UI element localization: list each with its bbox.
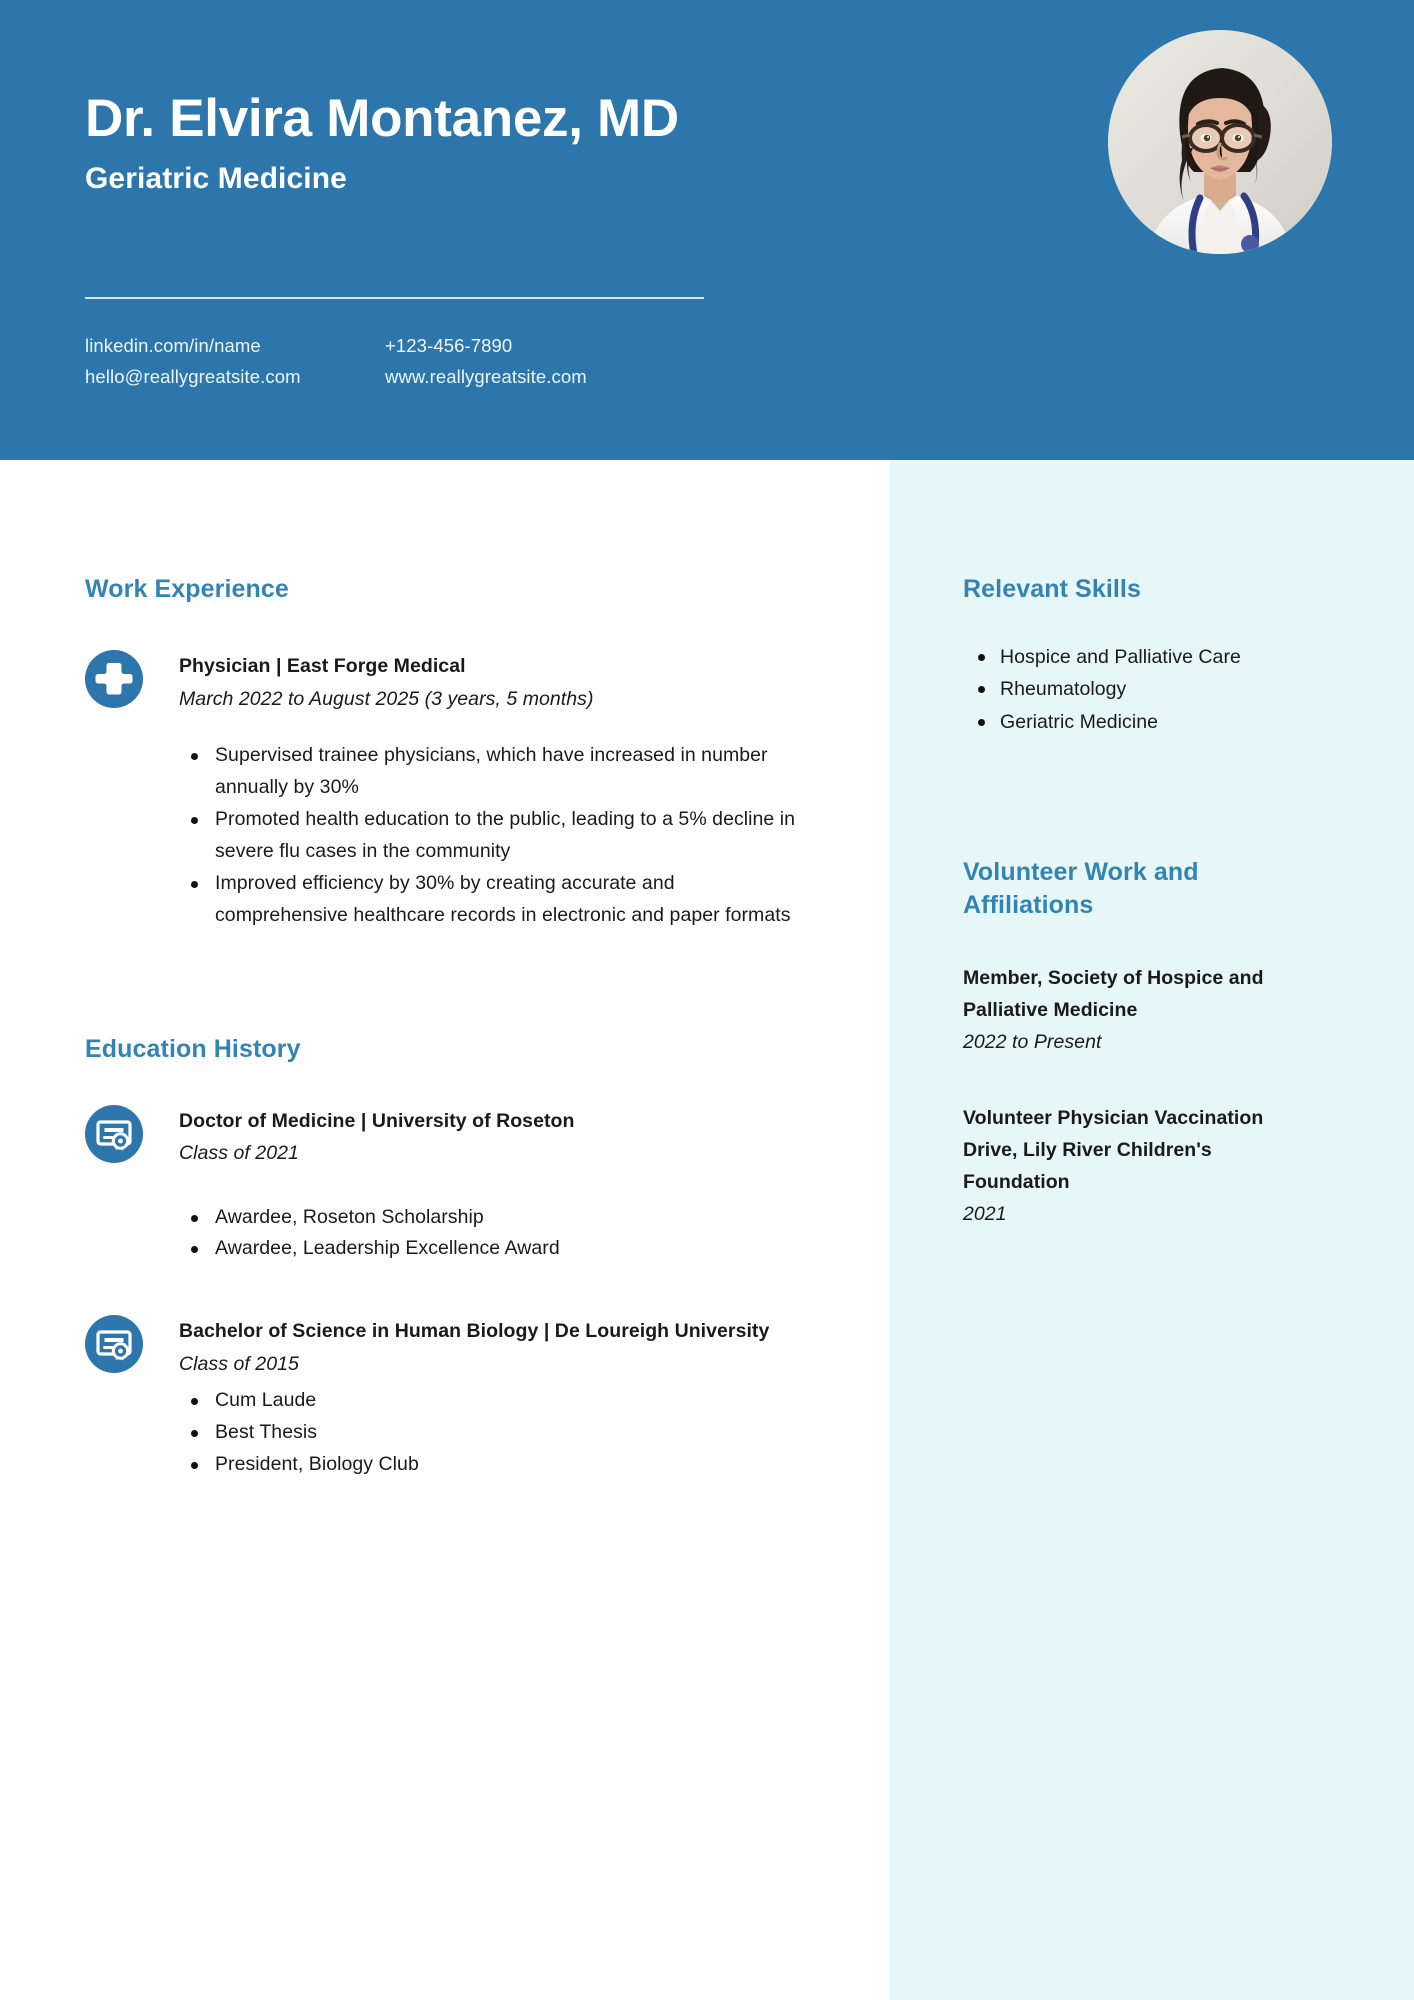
education-bullets: Awardee, Roseton Scholarship Awardee, Le… [179, 1202, 805, 1266]
phone-number[interactable]: +123-456-7890 [385, 333, 587, 360]
list-item: Improved efficiency by 30% by creating a… [213, 868, 805, 932]
volunteer-dates: 2022 to Present [963, 1027, 1273, 1059]
resume-page: Dr. Elvira Montanez, MD Geriatric Medici… [0, 0, 1414, 2000]
degree-class: Class of 2015 [179, 1349, 805, 1379]
job-title: Physician | East Forge Medical [179, 652, 805, 682]
resume-header: Dr. Elvira Montanez, MD Geriatric Medici… [0, 0, 1414, 460]
certificate-icon [85, 1105, 143, 1163]
resume-body: Work Experience Physician | East Forge M… [0, 460, 1414, 2000]
volunteer-entry: Member, Society of Hospice and Palliativ… [963, 963, 1273, 1059]
main-column: Work Experience Physician | East Forge M… [0, 460, 890, 2000]
contact-info: linkedin.com/in/name hello@reallygreatsi… [85, 333, 587, 391]
list-item: President, Biology Club [213, 1449, 805, 1481]
list-item: Rheumatology [1000, 673, 1414, 705]
header-divider [85, 297, 704, 299]
list-item: Promoted health education to the public,… [213, 804, 805, 868]
job-dates: March 2022 to August 2025 (3 years, 5 mo… [179, 684, 805, 714]
list-item: Awardee, Leadership Excellence Award [213, 1233, 805, 1265]
education-entry: Bachelor of Science in Human Biology | D… [85, 1313, 805, 1481]
certificate-icon [85, 1315, 143, 1373]
email-link[interactable]: hello@reallygreatsite.com [85, 364, 385, 391]
linkedin-link[interactable]: linkedin.com/in/name [85, 333, 385, 360]
list-item: Supervised trainee physicians, which hav… [213, 740, 805, 804]
volunteer-entry: Volunteer Physician Vaccination Drive, L… [963, 1103, 1273, 1231]
degree-title: Bachelor of Science in Human Biology | D… [179, 1317, 805, 1347]
skills-list: Hospice and Palliative Care Rheumatology… [963, 641, 1414, 738]
section-title-relevant-skills: Relevant Skills [963, 575, 1414, 604]
volunteer-title: Member, Society of Hospice and Palliativ… [963, 963, 1273, 1027]
sidebar-column: Relevant Skills Hospice and Palliative C… [890, 460, 1414, 2000]
degree-title: Doctor of Medicine | University of Roset… [179, 1107, 805, 1137]
work-entry: Physician | East Forge Medical March 202… [85, 648, 805, 932]
list-item: Cum Laude [213, 1385, 805, 1417]
website-link[interactable]: www.reallygreatsite.com [385, 364, 587, 391]
volunteer-dates: 2021 [963, 1199, 1273, 1231]
doctor-portrait-icon [1108, 30, 1332, 254]
volunteer-title: Volunteer Physician Vaccination Drive, L… [963, 1103, 1273, 1199]
list-item: Awardee, Roseton Scholarship [213, 1202, 805, 1234]
page-title: Dr. Elvira Montanez, MD [85, 90, 679, 148]
medical-cross-icon [85, 650, 143, 708]
education-bullets: Cum Laude Best Thesis President, Biology… [179, 1385, 805, 1481]
subtitle-specialty: Geriatric Medicine [85, 162, 347, 196]
list-item: Hospice and Palliative Care [1000, 641, 1414, 673]
job-bullets: Supervised trainee physicians, which hav… [179, 740, 805, 932]
education-entry: Doctor of Medicine | University of Roset… [85, 1103, 805, 1266]
degree-class: Class of 2021 [179, 1138, 805, 1168]
section-title-education-history: Education History [85, 1035, 805, 1064]
list-item: Best Thesis [213, 1417, 805, 1449]
list-item: Geriatric Medicine [1000, 706, 1414, 738]
section-title-work-experience: Work Experience [85, 575, 805, 604]
avatar [1108, 30, 1332, 254]
section-title-volunteer-work: Volunteer Work and Affiliations [963, 856, 1293, 923]
